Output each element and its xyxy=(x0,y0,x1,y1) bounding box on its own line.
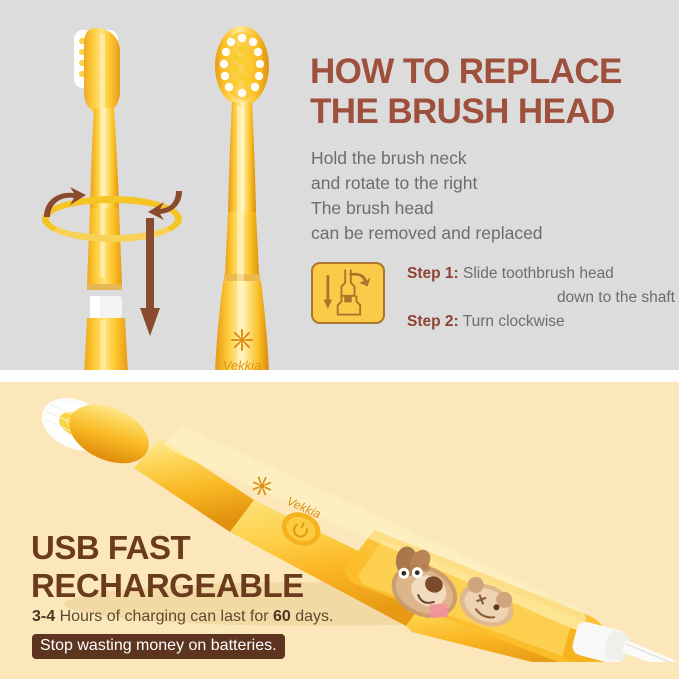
instruction-line: and rotate to the right xyxy=(311,171,671,196)
title-line-2: THE BRUSH HEAD xyxy=(310,92,670,132)
usb-title: USB FAST RECHARGEABLE xyxy=(31,529,371,605)
toothbrush-head-top-view: Vekkia xyxy=(196,22,288,370)
step-illustration-box xyxy=(311,262,385,324)
brush-head-attach-icon xyxy=(313,264,383,322)
step-2-row: Step 2: Turn clockwise xyxy=(407,310,677,334)
step-2-text: Turn clockwise xyxy=(463,313,565,330)
step-1-text-line2: down to the shaft xyxy=(407,286,677,310)
bottom-section: Vekkia xyxy=(0,382,679,679)
rotation-direction-arrows xyxy=(30,183,200,227)
brand-name-top: Vekkia xyxy=(223,358,262,370)
charge-mid-text: Hours of charging can last for xyxy=(55,608,273,625)
down-arrow xyxy=(140,218,160,336)
charge-hours: 3-4 xyxy=(32,608,55,625)
sun-starburst-logo xyxy=(232,330,252,350)
down-arrow-icon xyxy=(324,275,332,309)
step-1-label: Step 1: xyxy=(407,265,459,282)
instruction-line: can be removed and replaced xyxy=(311,221,671,246)
battery-savings-banner: Stop wasting money on batteries. xyxy=(32,634,285,659)
charge-suffix-text: days. xyxy=(291,608,334,625)
shaft-connector xyxy=(60,296,152,370)
steps-text: Step 1: Slide toothbrush head down to th… xyxy=(407,262,677,334)
title-line-1: HOW TO REPLACE xyxy=(310,52,622,91)
page-title: HOW TO REPLACE THE BRUSH HEAD xyxy=(310,52,670,132)
section-divider xyxy=(0,370,679,382)
instruction-line: The brush head xyxy=(311,196,671,221)
step-1-text: Slide toothbrush head xyxy=(463,265,614,282)
step-1-row: Step 1: Slide toothbrush head down to th… xyxy=(407,262,677,310)
usb-title-line-1: USB FAST xyxy=(31,529,371,567)
usb-charging-cable xyxy=(562,620,679,662)
steps-block: Step 1: Slide toothbrush head down to th… xyxy=(311,262,676,342)
infographic-page: Vekkia HOW TO REPLACE THE BRUSH HEAD Hol… xyxy=(0,0,679,679)
instruction-line: Hold the brush neck xyxy=(311,146,671,171)
usb-title-line-2: RECHARGEABLE xyxy=(31,567,371,605)
step-2-label: Step 2: xyxy=(407,313,459,330)
toothbrush-head-side-view xyxy=(60,22,152,342)
instructions-body: Hold the brush neck and rotate to the ri… xyxy=(311,146,671,246)
top-section: Vekkia HOW TO REPLACE THE BRUSH HEAD Hol… xyxy=(0,0,679,370)
usb-subtitle: 3-4 Hours of charging can last for 60 da… xyxy=(32,607,372,627)
days-count: 60 xyxy=(273,608,291,625)
